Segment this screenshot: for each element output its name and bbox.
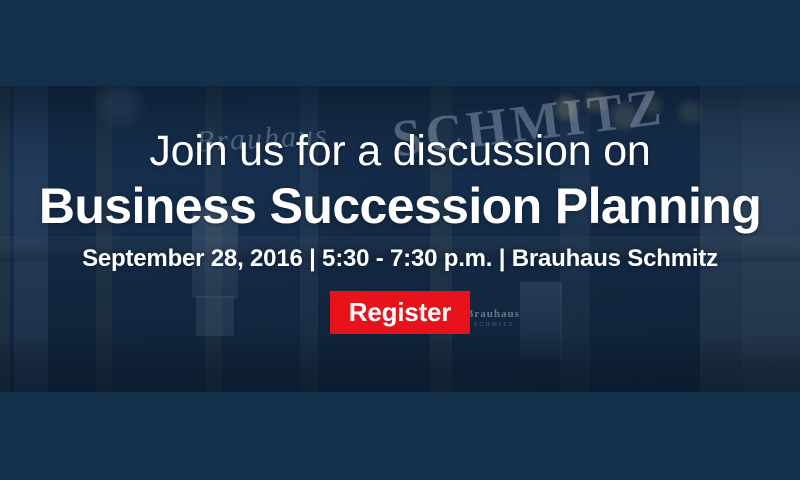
event-details: September 28, 2016 | 5:30 - 7:30 p.m. | …: [82, 246, 718, 272]
headline-line-2: Business Succession Planning: [39, 180, 761, 232]
headline-line-1: Join us for a discussion on: [149, 128, 650, 174]
event-banner: Brauhaus SCHMITZ Brauhaus SCHMITZ Join u…: [0, 0, 800, 480]
top-navy-band: [0, 0, 800, 86]
bottom-navy-band: [0, 392, 800, 480]
register-button[interactable]: Register: [330, 291, 470, 334]
